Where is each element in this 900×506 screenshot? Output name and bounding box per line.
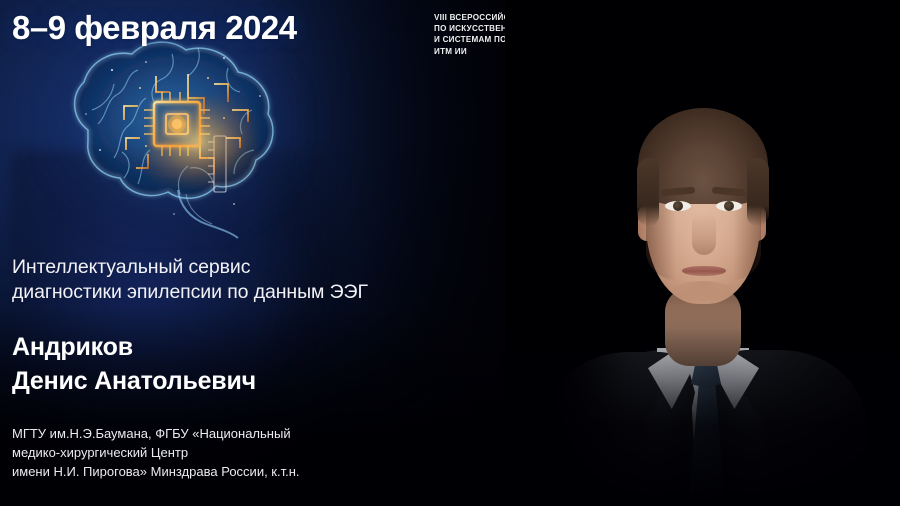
portrait-iris-left bbox=[673, 201, 683, 211]
talk-title-line-1: Интеллектуальный сервис bbox=[12, 255, 482, 280]
brain-circuit-illustration bbox=[28, 18, 318, 248]
portrait-iris-right bbox=[724, 201, 734, 211]
portrait-eye-left bbox=[665, 201, 691, 211]
portrait-mouth bbox=[682, 266, 726, 276]
speaker-affiliation: МГТУ им.Н.Э.Баумана, ФГБУ «Национальный … bbox=[12, 424, 462, 481]
portrait-nose bbox=[692, 213, 716, 255]
portrait-eye-right bbox=[716, 201, 742, 211]
event-date: 8–9 февраля 2024 bbox=[12, 9, 297, 47]
talk-title: Интеллектуальный сервис диагностики эпил… bbox=[12, 255, 482, 305]
affiliation-line-3: имени Н.И. Пирогова» Минздрава России, к… bbox=[12, 462, 462, 481]
affiliation-line-1: МГТУ им.Н.Э.Баумана, ФГБУ «Национальный bbox=[12, 424, 462, 443]
talk-title-line-2: диагностики эпилепсии по данным ЭЭГ bbox=[12, 280, 482, 305]
speaker-name: Андриков Денис Анатольевич bbox=[12, 330, 482, 398]
conference-slide: 8–9 февраля 2024 VIII ВСЕРОССИЙСКАЯ НАУЧ… bbox=[0, 0, 900, 506]
portrait-chin bbox=[673, 281, 733, 301]
affiliation-line-2: медико-хирургический Центр bbox=[12, 443, 462, 462]
speaker-surname: Андриков bbox=[12, 330, 482, 364]
portrait-hair-side-right bbox=[747, 158, 769, 226]
chip-core-glow bbox=[148, 96, 258, 188]
portrait-hair-side-left bbox=[637, 158, 659, 226]
speaker-given-names: Денис Анатольевич bbox=[12, 364, 482, 398]
